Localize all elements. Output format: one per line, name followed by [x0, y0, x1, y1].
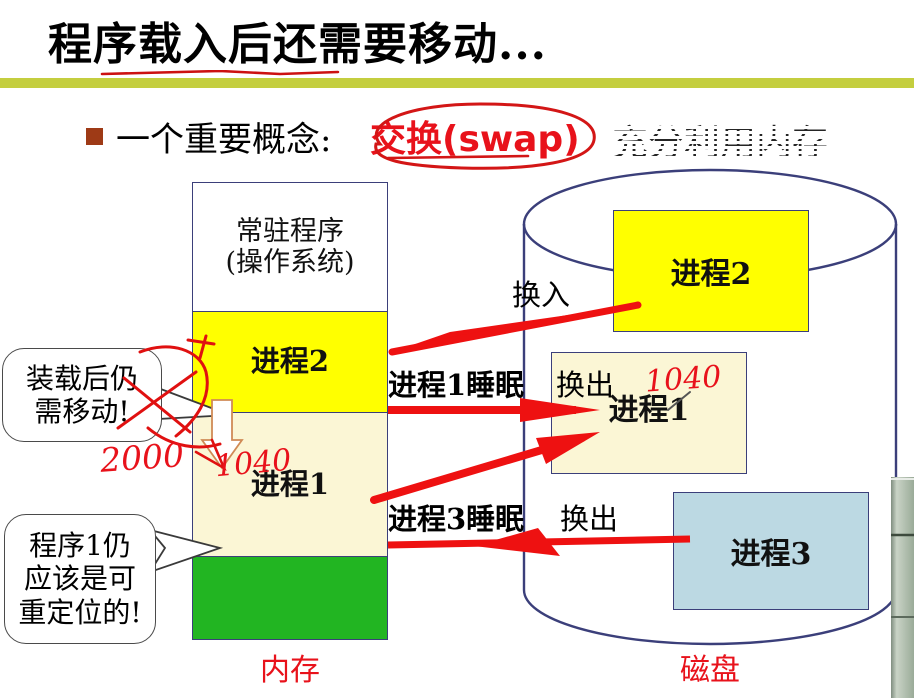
label-swap-in: 换入 — [512, 272, 570, 314]
callout-program1-relocatable: 程序1仍 应该是可 重定位的! — [4, 514, 156, 644]
disk-block-process2: 进程2 — [613, 210, 809, 332]
page-title: 程序载入后还需要移动... — [48, 8, 547, 72]
label-process3-swap-out: 换出 — [560, 496, 618, 538]
annotation-address-1040-disk: 1040 — [644, 359, 723, 399]
label-process1-swap-out: 换出 — [556, 362, 614, 404]
memory-os-line1: 常驻程序 — [236, 216, 344, 247]
callout2-line3: 重定位的! — [18, 596, 141, 629]
disk-block-process3: 进程3 — [673, 492, 869, 610]
callout1-line2: 需移动! — [34, 395, 129, 428]
memory-block-free — [192, 556, 388, 640]
faded-note-text: 充分利用内存 — [612, 114, 828, 166]
memory-block-process1: 进程1 — [192, 412, 388, 557]
disk-caption: 磁盘 — [522, 645, 898, 689]
memory-os-line2: (操作系统) — [225, 247, 354, 278]
callout-relocation-needed: 装载后仍 需移动! — [2, 348, 162, 442]
callout2-line2: 应该是可 — [24, 562, 136, 595]
bullet-square-icon — [86, 128, 103, 145]
bullet-text: 一个重要概念: — [116, 112, 331, 161]
memory-block-os: 常驻程序 (操作系统) — [192, 182, 388, 312]
swap-circle-scribble — [352, 100, 602, 172]
label-process1-sleep: 进程1睡眠 — [388, 362, 524, 404]
title-divider-band — [0, 78, 914, 88]
annotation-address-1040-memory: 1040 — [214, 443, 293, 485]
memory-column: 常驻程序 (操作系统) 进程2 进程1 — [192, 182, 388, 640]
memory-caption: 内存 — [192, 645, 388, 689]
memory-block-process2: 进程2 — [192, 311, 388, 413]
callout2-line1: 程序1仍 — [29, 529, 131, 562]
label-process3-sleep: 进程3睡眠 — [388, 496, 524, 538]
annotation-address-2000: 2000 — [99, 435, 186, 480]
title-underline-scribble — [100, 70, 340, 76]
callout1-line1: 装载后仍 — [26, 362, 138, 395]
right-edge-scrollbar-strip[interactable] — [891, 477, 914, 698]
slide-canvas: 程序载入后还需要移动... 一个重要概念: 交换(swap) 充分利用内存 进程… — [0, 0, 914, 698]
